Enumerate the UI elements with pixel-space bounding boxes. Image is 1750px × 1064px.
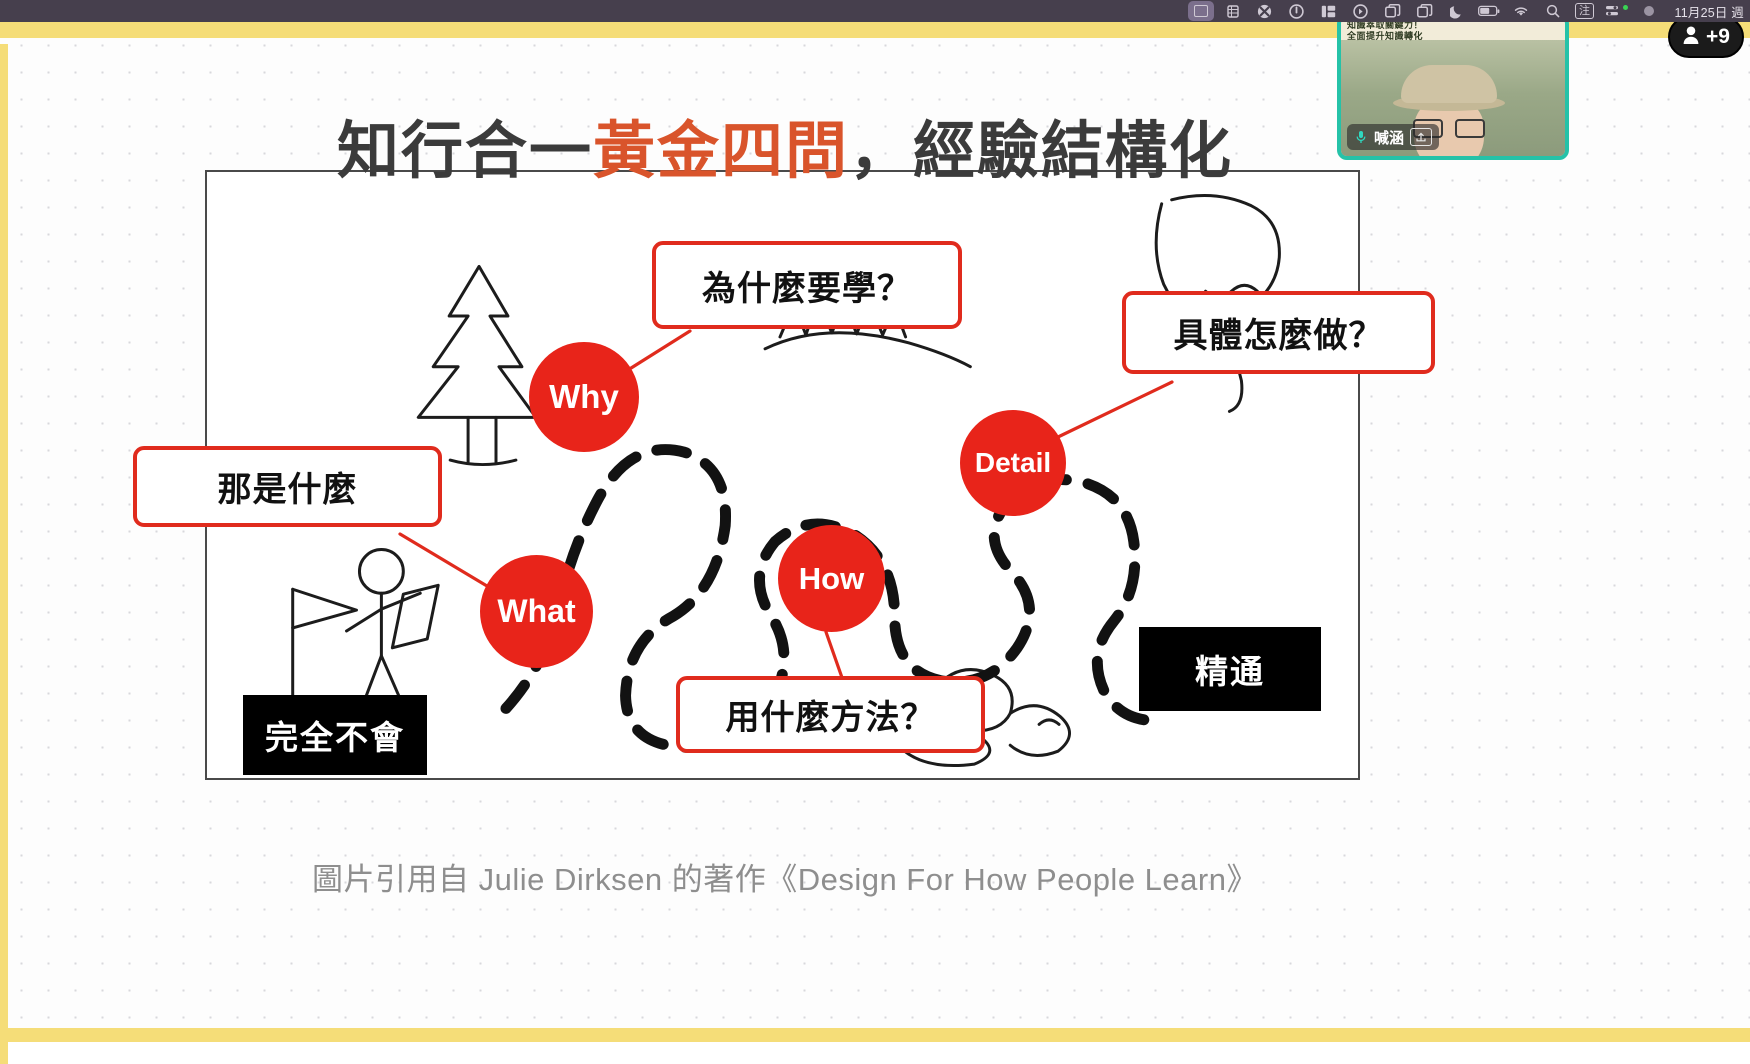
control-center-icon[interactable] bbox=[1604, 1, 1630, 21]
participants-count: +9 bbox=[1706, 25, 1730, 49]
participant-name: 喊涵 bbox=[1374, 127, 1404, 148]
person-icon bbox=[1682, 25, 1700, 50]
title-part-highlight: 黃金四問 bbox=[593, 117, 849, 186]
node-what[interactable]: What bbox=[480, 555, 593, 668]
screen-share-glyph bbox=[1194, 5, 1208, 17]
windows-icon[interactable] bbox=[1380, 1, 1406, 21]
share-icon[interactable] bbox=[1410, 128, 1432, 146]
arrow-circle-icon[interactable] bbox=[1348, 1, 1374, 21]
copy-icon[interactable] bbox=[1412, 1, 1438, 21]
title-part-after: ，經驗結構化 bbox=[849, 117, 1233, 186]
input-method-icon[interactable]: 注 bbox=[1572, 1, 1598, 21]
avatar-hat bbox=[1401, 65, 1497, 103]
search-icon[interactable] bbox=[1540, 1, 1566, 21]
source-caption: 圖片引用自 Julie Dirksen 的著作《Design For How P… bbox=[0, 854, 1570, 899]
level-box-end: 精通 bbox=[1139, 627, 1321, 711]
macos-menu-bar: 注 11月25日 週 bbox=[0, 0, 1750, 22]
screen-share-icon[interactable] bbox=[1188, 1, 1214, 21]
node-detail[interactable]: Detail bbox=[960, 410, 1066, 516]
callout-how[interactable]: 用什麼方法？ bbox=[676, 676, 985, 753]
layout-icon[interactable] bbox=[1316, 1, 1342, 21]
bottom-yellow-strip bbox=[0, 1028, 1750, 1042]
level-box-start: 完全不會 bbox=[243, 695, 427, 775]
node-why[interactable]: Why bbox=[529, 342, 639, 452]
participants-badge[interactable]: +9 bbox=[1668, 16, 1744, 58]
callout-what[interactable]: 那是什麼 bbox=[133, 446, 442, 527]
grid-icon[interactable] bbox=[1220, 1, 1246, 21]
scissors-icon[interactable] bbox=[1252, 1, 1278, 21]
left-yellow-strip bbox=[0, 44, 8, 1064]
video-participant-tile[interactable]: 知識萃取關鍵力！ 全面提升知識轉化 喊涵 bbox=[1337, 14, 1569, 160]
menu-bar-clock[interactable]: 11月25日 週 bbox=[1675, 2, 1744, 21]
moon-icon[interactable] bbox=[1444, 1, 1470, 21]
power-icon[interactable] bbox=[1284, 1, 1310, 21]
battery-icon[interactable] bbox=[1476, 1, 1502, 21]
callout-detail[interactable]: 具體怎麼做？ bbox=[1122, 291, 1435, 374]
participant-name-bar: 喊涵 bbox=[1347, 124, 1439, 150]
wifi-icon[interactable] bbox=[1508, 1, 1534, 21]
mic-icon[interactable] bbox=[1354, 129, 1368, 145]
status-dot bbox=[1623, 5, 1628, 10]
slide-canvas: 知行合一黃金四問，經驗結構化 bbox=[0, 22, 1750, 1042]
node-how[interactable]: How bbox=[778, 525, 885, 632]
screen-record-dot-icon[interactable] bbox=[1636, 1, 1662, 21]
page-title: 知行合一黃金四問，經驗結構化 bbox=[0, 100, 1570, 190]
video-banner-text: 知識萃取關鍵力！ 全面提升知識轉化 bbox=[1347, 20, 1423, 42]
title-part-before: 知行合一 bbox=[337, 117, 593, 186]
callout-why[interactable]: 為什麼要學？ bbox=[652, 241, 962, 329]
